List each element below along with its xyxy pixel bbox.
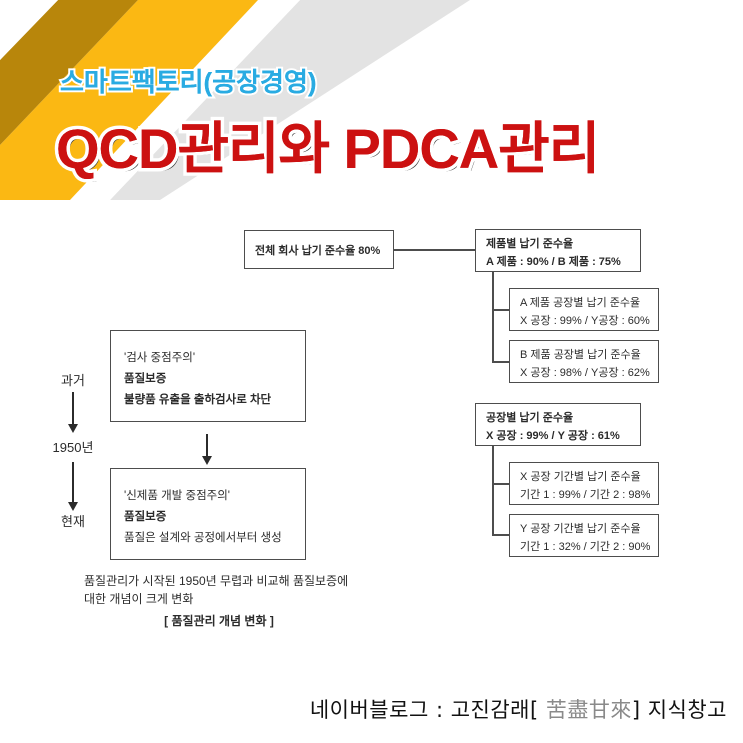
present-quality-line-1: 품질보증 [124, 512, 166, 524]
product-delivery-box: 제품별 납기 준수율 A 제품 : 90% / B 제품 : 75% [475, 229, 641, 272]
timeline-arrow-1-shaft [72, 392, 74, 426]
spine-factory [492, 446, 494, 535]
timeline-arrow-2-shaft [72, 462, 74, 504]
factory-delivery-line-1: X 공장 : 99% / Y 공장 : 61% [486, 431, 620, 442]
present-quality-line-2: 품질은 설계와 공정에서부터 생성 [124, 533, 282, 545]
connector-company-product [393, 249, 476, 251]
factory-delivery-box: 공장별 납기 준수율 X 공장 : 99% / Y 공장 : 61% [475, 403, 641, 446]
slide-canvas: 스마트팩토리(공장경영) 스마트팩토리(공장경영) QCD관리와 PDCA관리 … [0, 0, 743, 743]
company-delivery-line-0: 전체 회사 납기 준수율 80% [255, 246, 380, 257]
branch-product-b [492, 361, 510, 363]
present-quality-box: '신제품 개발 중점주의' 품질보증 품질은 설계와 공정에서부터 생성 [110, 468, 306, 560]
factory-x-line-0: X 공장 기간별 납기 준수율 [520, 472, 641, 483]
product-a-factory-box: A 제품 공장별 납기 준수율 X 공장 : 99% / Y공장 : 60% [509, 288, 659, 331]
footer-hanja: 苦盡甘來 [546, 698, 632, 722]
factory-delivery-line-0: 공장별 납기 준수율 [486, 413, 573, 424]
past-quality-line-0: '검사 중점주의' [124, 353, 195, 365]
product-a-line-0: A 제품 공장별 납기 준수율 [520, 298, 640, 309]
page-subtitle: 스마트팩토리(공장경영) [60, 62, 317, 99]
timeline-arrow-2-head [68, 502, 78, 511]
product-b-line-0: B 제품 공장별 납기 준수율 [520, 350, 641, 361]
branch-product-a [492, 309, 510, 311]
product-delivery-line-0: 제품별 납기 준수율 [486, 239, 573, 250]
product-b-factory-box: B 제품 공장별 납기 준수율 X 공장 : 98% / Y공장 : 62% [509, 340, 659, 383]
timeline-caption-title: [ 품질관리 개념 변화 ] [84, 612, 354, 629]
past-quality-line-1: 품질보증 [124, 374, 166, 386]
factory-y-line-1: 기간 1 : 32% / 기간 2 : 90% [520, 542, 650, 553]
blog-footer: 네이버블로그 : 고진감래[ 苦盡甘來] 지식창고 [0, 694, 743, 724]
timeline-label-1950: 1950년 [34, 437, 112, 456]
box-transition-arrow-head [202, 456, 212, 465]
spine-product [492, 272, 494, 362]
page-title: QCD관리와 PDCA관리 [56, 104, 599, 185]
present-quality-line-0: '신제품 개발 중점주의' [124, 491, 230, 503]
branch-factory-x [492, 483, 510, 485]
timeline-arrow-1-head [68, 424, 78, 433]
footer-suffix: ] 지식창고 [632, 698, 727, 722]
past-quality-line-2: 불량품 유출을 출하검사로 차단 [124, 395, 271, 407]
product-a-line-1: X 공장 : 99% / Y공장 : 60% [520, 316, 650, 327]
timeline-label-past: 과거 [48, 370, 98, 389]
box-transition-arrow-shaft [206, 434, 208, 458]
footer-prefix: 네이버블로그 : 고진감래[ [310, 698, 546, 722]
company-delivery-box: 전체 회사 납기 준수율 80% [244, 230, 394, 269]
branch-factory-y [492, 534, 510, 536]
factory-x-period-box: X 공장 기간별 납기 준수율 기간 1 : 99% / 기간 2 : 98% [509, 462, 659, 505]
factory-x-line-1: 기간 1 : 99% / 기간 2 : 98% [520, 490, 650, 501]
product-delivery-line-1: A 제품 : 90% / B 제품 : 75% [486, 257, 621, 268]
timeline-caption: 품질관리가 시작된 1950년 무렵과 비교해 품질보증에 대한 개념이 크게 … [84, 572, 354, 608]
factory-y-line-0: Y 공장 기간별 납기 준수율 [520, 524, 641, 535]
timeline-label-present: 현재 [48, 511, 98, 530]
factory-y-period-box: Y 공장 기간별 납기 준수율 기간 1 : 32% / 기간 2 : 90% [509, 514, 659, 557]
past-quality-box: '검사 중점주의' 품질보증 불량품 유출을 출하검사로 차단 [110, 330, 306, 422]
product-b-line-1: X 공장 : 98% / Y공장 : 62% [520, 368, 650, 379]
